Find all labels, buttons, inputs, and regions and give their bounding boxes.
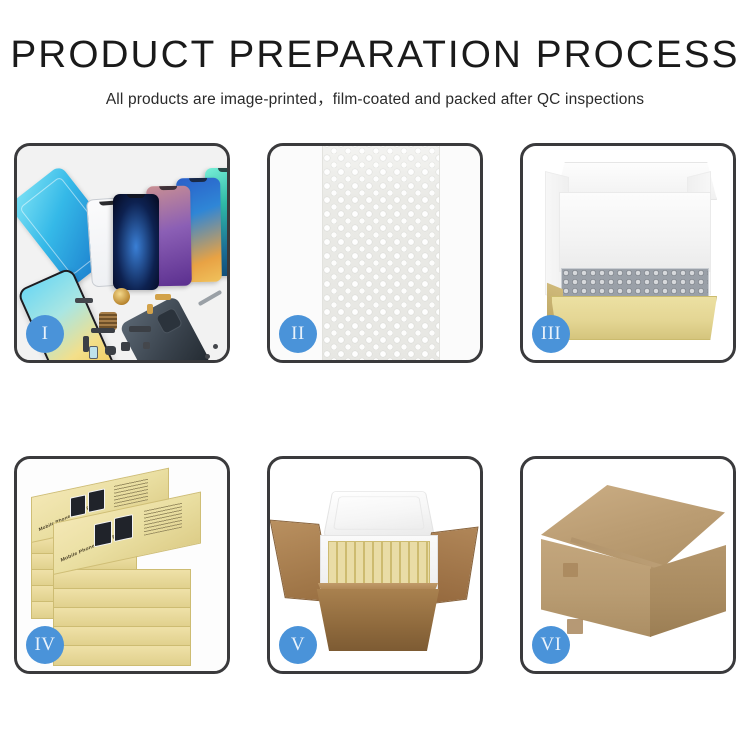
screw-icon: [205, 354, 210, 359]
carton-front-icon: [310, 589, 446, 651]
stacked-box-side: [53, 588, 191, 609]
tweezers-icon: [198, 290, 223, 306]
carton-tape-icon: [567, 619, 583, 634]
step-badge-2: II: [279, 315, 317, 353]
yellow-boxes-inside-icon: [328, 541, 430, 587]
step-image-inner-box: III: [523, 146, 733, 360]
speaker-part-icon: [113, 288, 130, 305]
box-window-icon: [114, 514, 133, 542]
page-title: PRODUCT PREPARATION PROCESS: [0, 36, 750, 76]
step-image-carton-packing: V: [270, 459, 480, 671]
screw-icon: [143, 342, 150, 349]
step-badge-1: I: [26, 315, 64, 353]
carton-tape-icon: [563, 563, 578, 577]
page-subtitle: All products are image-printed，film-coat…: [0, 87, 750, 109]
box-window-icon: [88, 488, 105, 513]
vibrator-part-icon: [105, 346, 116, 355]
box-spec-lines: [144, 503, 182, 536]
bubble-texture-icon: [323, 146, 439, 360]
box-window-icon: [94, 520, 112, 547]
step-image-products: I: [17, 146, 227, 360]
stacked-box-side: [53, 645, 191, 666]
stacked-box-side: [53, 626, 191, 647]
step-card-2: II: [267, 143, 483, 363]
step-card-1: I: [14, 143, 230, 363]
step-card-3: III: [520, 143, 736, 363]
bubble-bag-icon: [322, 146, 440, 360]
step-badge-5: V: [279, 626, 317, 664]
kraft-box-front-icon: [551, 296, 717, 340]
step-card-5: V: [267, 456, 483, 674]
step-card-6: VI: [520, 456, 736, 674]
sim-tray-icon: [89, 346, 98, 359]
process-steps-grid: I II III: [14, 143, 737, 674]
box-window-icon: [70, 494, 86, 517]
phone-dark-icon: [113, 194, 159, 290]
styrofoam-lid-icon: [323, 491, 435, 537]
step-badge-3: III: [532, 315, 570, 353]
screw-icon: [213, 344, 218, 349]
step-badge-6: VI: [532, 626, 570, 664]
gold-connector-icon: [147, 304, 153, 314]
flex-cable-icon: [129, 326, 151, 332]
stacked-box-side: [53, 569, 191, 590]
gold-connector-icon: [155, 294, 171, 300]
camera-module-icon: [121, 342, 130, 351]
foam-sheet-icon: [559, 192, 711, 272]
step-badge-4: IV: [26, 626, 64, 664]
step-image-bubble-wrap: II: [270, 146, 480, 360]
page-header: PRODUCT PREPARATION PROCESS All products…: [0, 0, 750, 109]
stacked-box-side: [53, 607, 191, 628]
step-image-stacked-boxes: Mobile Phone Spare Parts Mobile Phone Sp…: [17, 459, 227, 671]
flex-cable-icon: [91, 328, 115, 333]
step-image-sealed-carton: VI: [523, 459, 733, 671]
small-part-icon: [75, 298, 93, 303]
step-card-4: Mobile Phone Spare Parts Mobile Phone Sp…: [14, 456, 230, 674]
bubble-wrapped-contents-icon: [561, 268, 709, 300]
